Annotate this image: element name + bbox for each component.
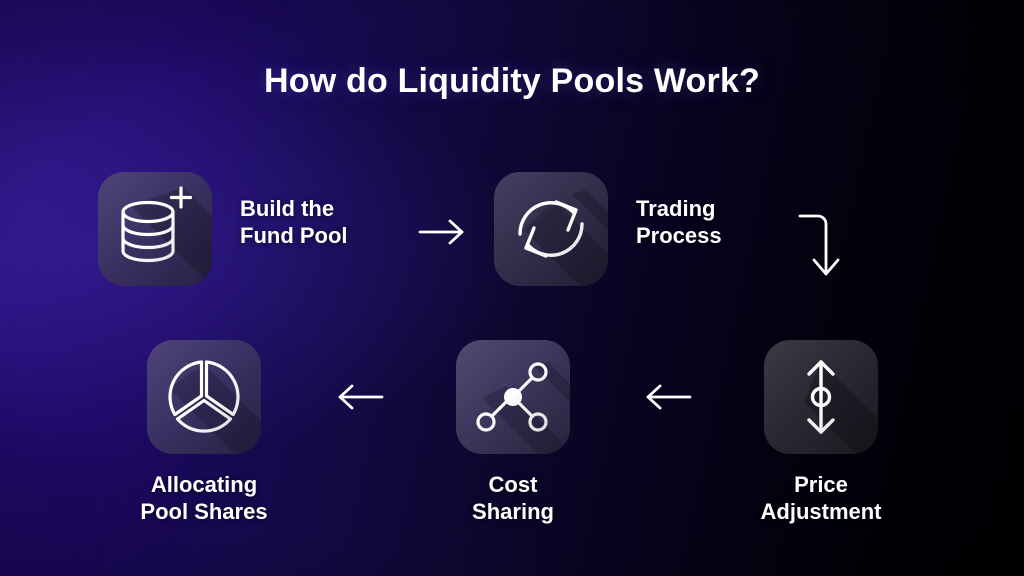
arrow-elbow-down-icon	[800, 216, 838, 274]
step-tile-allocating-pool-shares[interactable]	[147, 340, 261, 454]
step-label-trading-process: Trading Process	[636, 196, 722, 250]
connector-arrow-right-1	[414, 212, 474, 252]
page-title: How do Liquidity Pools Work?	[0, 62, 1024, 101]
slide-canvas: How do Liquidity Pools Work? Build the F…	[0, 0, 1024, 576]
connector-arrow-left-2	[330, 377, 390, 417]
connector-arrow-left-1	[638, 377, 698, 417]
vertical-double-arrow-icon	[809, 362, 833, 432]
step-label-cost-sharing: Cost Sharing	[373, 472, 653, 526]
step-label-price-adjustment: Price Adjustment	[681, 472, 961, 526]
connector-arrow-elbow-down	[794, 198, 864, 294]
arrow-left-icon	[648, 386, 690, 408]
step-tile-cost-sharing[interactable]	[456, 340, 570, 454]
arrow-right-icon	[420, 221, 462, 243]
arrow-left-icon	[340, 386, 382, 408]
step-tile-trading-process[interactable]	[494, 172, 608, 286]
step-label-build-fund-pool: Build the Fund Pool	[240, 196, 348, 250]
share-center-node	[504, 388, 522, 406]
step-tile-build-fund-pool[interactable]	[98, 172, 212, 286]
step-tile-price-adjustment[interactable]	[764, 340, 878, 454]
tile-long-shadow	[804, 362, 878, 454]
step-label-allocating-pool-shares: Allocating Pool Shares	[64, 472, 344, 526]
